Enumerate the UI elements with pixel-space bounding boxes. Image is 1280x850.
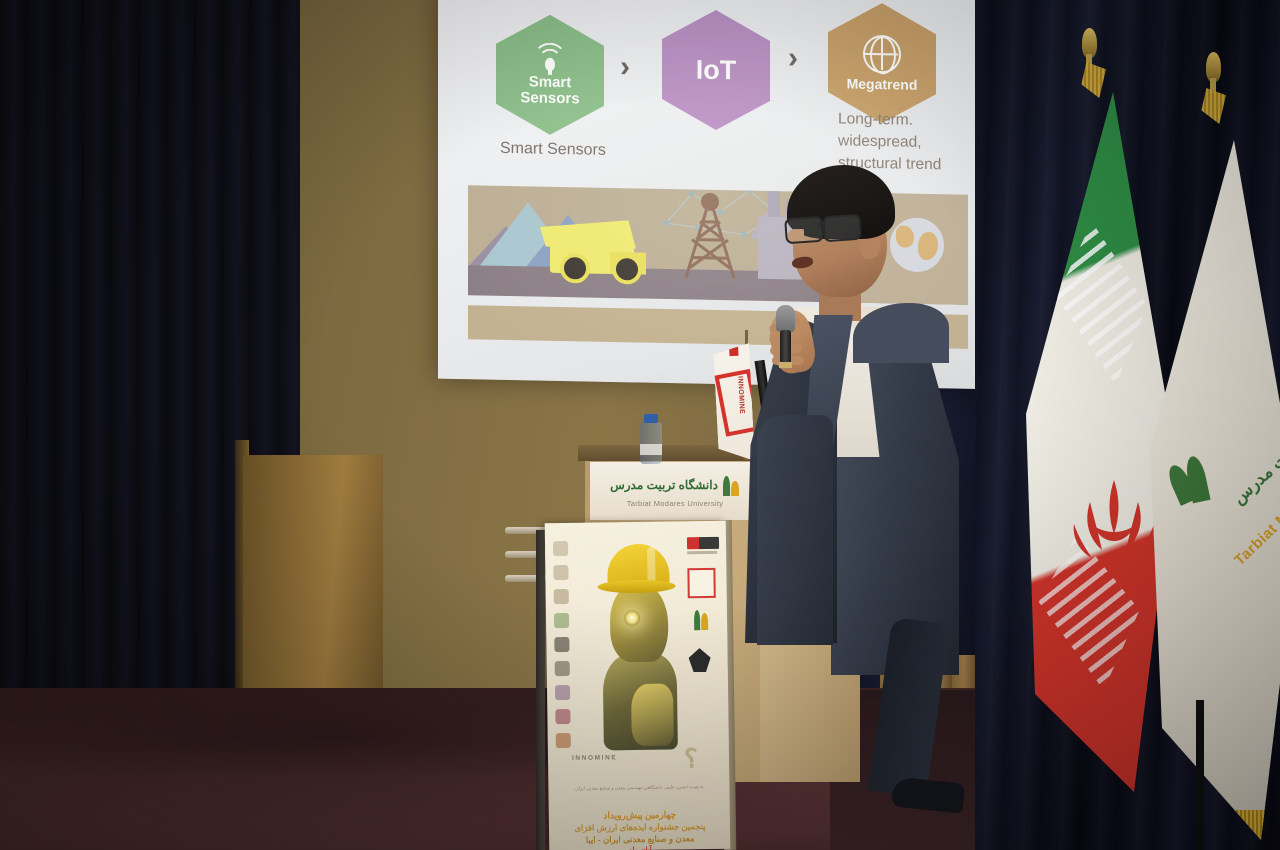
wifi-sensor-icon xyxy=(531,42,569,73)
eyeglass-bridge xyxy=(818,223,826,225)
sponsor-logo-icon xyxy=(553,565,568,580)
sponsor-logo-icon xyxy=(556,733,571,748)
suit-sleeve-arm xyxy=(757,415,833,645)
hexagon-megatrend: Megatrend xyxy=(828,2,936,124)
iran-flag-kufic-band-top xyxy=(1044,222,1164,442)
easel-leg xyxy=(536,530,545,850)
sponsor-logo-icon xyxy=(554,613,569,628)
poster-spark-icon xyxy=(624,610,640,626)
flag-tassel-icon xyxy=(1078,62,1106,98)
poster-figure-head xyxy=(610,584,669,663)
microphone-body xyxy=(780,330,791,364)
chevron-right-icon: › xyxy=(620,50,630,84)
lectern-logo-english: Tarbiat Modares University xyxy=(627,499,724,508)
imidro-logo-subtext xyxy=(687,551,717,554)
poster-title-line2: پنجمین جشنواره ایده‌های ارزش افزای xyxy=(559,821,721,833)
university-gold-mark-icon xyxy=(1158,168,1204,208)
sponsor-logo-icon xyxy=(555,661,570,676)
poster-question-mark: ؟ xyxy=(684,743,698,774)
event-poster: INNOMINE ؟ به همت انجمن علمی دانشگاهی مه… xyxy=(545,521,731,850)
poster-right-logo-column xyxy=(687,537,723,672)
eyeglass-lens-left xyxy=(784,216,824,245)
sponsor-logo-icon xyxy=(554,637,569,652)
megatrend-desc-line1: Long-term. xyxy=(838,108,941,132)
poster-title-line3: معدن و صنایع معدنی ایران - ایبا xyxy=(559,833,721,845)
slide-caption-smart-sensors: Smart Sensors xyxy=(500,140,606,160)
hard-hat-brim xyxy=(598,579,676,593)
flag-finial-icon xyxy=(1082,28,1097,58)
conference-photo: Tarbiat Modares University xyxy=(0,0,1280,850)
eyeglass-lens-right xyxy=(822,214,862,243)
hexagon-smart-sensors: Smart Sensors xyxy=(496,14,604,136)
hexagon-iot: IoT xyxy=(662,9,770,131)
globe-icon xyxy=(863,34,901,73)
hexagon-megatrend-label: Megatrend xyxy=(847,75,918,92)
lectern-logo-persian: دانشگاه تربیت مدرس xyxy=(610,478,718,492)
poster-left-logo-column xyxy=(553,541,576,757)
wheat-logo-icon xyxy=(688,610,712,636)
water-bottle-cap xyxy=(644,414,658,423)
flag-pole-stand xyxy=(1196,700,1204,850)
sponsor-logo-icon xyxy=(555,685,570,700)
sponsor-logo-icon xyxy=(554,589,569,604)
poster-miner-figure xyxy=(593,543,680,744)
water-bottle xyxy=(640,422,662,464)
dark-figure-logo-icon xyxy=(688,648,710,672)
water-bottle-label xyxy=(640,444,662,455)
red-box-logo-icon xyxy=(687,568,715,598)
university-flag-cloth: دانشگاه تربیت مدرس Tarbiat Modares xyxy=(1150,140,1280,840)
sponsor-logo-icon xyxy=(553,541,568,556)
truck-wheel xyxy=(560,253,590,284)
imidro-logo-icon xyxy=(687,537,719,549)
hexagon-smart-sensors-line2: Sensors xyxy=(520,90,579,107)
microphone-gold-ring xyxy=(779,362,792,368)
iran-emblem-icon xyxy=(1068,472,1160,582)
poster-brand-text: INNOMINE xyxy=(572,754,617,762)
poster-title-line1: چهارمین پیش‌رویداد xyxy=(559,809,721,822)
hexagon-iot-label: IoT xyxy=(696,62,737,79)
university-leaf-mark-icon xyxy=(1172,450,1238,516)
chevron-right-icon: › xyxy=(788,41,798,75)
sponsor-logo-icon xyxy=(555,709,570,724)
poster-paragraph: به همت انجمن علمی دانشگاهی مهندسی معدن و… xyxy=(562,783,716,792)
hard-hat-ridge xyxy=(647,547,656,583)
megatrend-desc-line2: widespread, xyxy=(838,130,941,154)
poster-figure-glow xyxy=(631,684,674,747)
mining-derrick-icon xyxy=(680,191,740,278)
eyeglasses xyxy=(783,215,867,239)
poster-title-line4: آبان ماه xyxy=(559,845,721,850)
university-flag: دانشگاه تربیت مدرس Tarbiat Modares xyxy=(1150,52,1280,832)
flag-tassel-icon xyxy=(1198,88,1226,124)
truck-wheel xyxy=(612,254,642,285)
flag-finial-icon xyxy=(1206,52,1221,82)
microphone-head xyxy=(776,305,795,332)
